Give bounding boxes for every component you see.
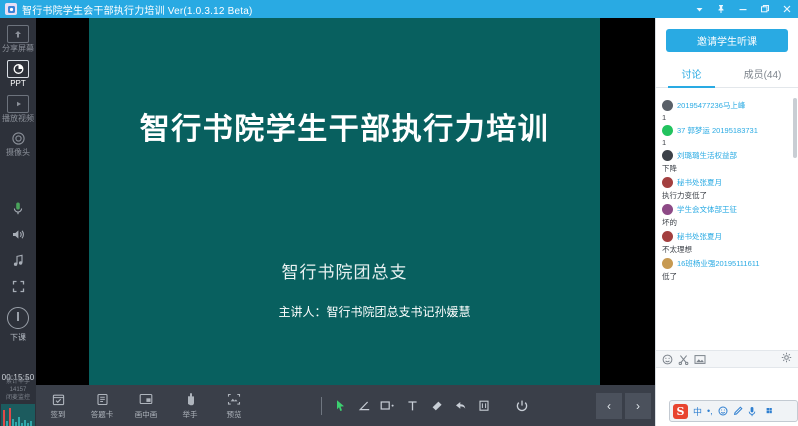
tab-members[interactable]: 成员(44) xyxy=(727,61,798,87)
toolbar-button-answer-card[interactable]: 答题卡 xyxy=(80,385,124,426)
sidebar-label-ppt: PPT xyxy=(10,80,26,89)
chat-message: 刘璐璐生活权益部 下降 xyxy=(662,150,792,174)
chat-message-text: 不太理想 xyxy=(662,244,792,255)
chat-message: 16班杨业强20195111611 低了 xyxy=(662,258,792,282)
emoji-icon[interactable] xyxy=(662,354,678,365)
left-sidebar: 分享屏幕 PPT 播放视频 摄像头 xyxy=(0,18,36,426)
avatar xyxy=(662,231,673,242)
chat-sender-name[interactable]: 秘书处张夏月 xyxy=(677,177,722,188)
image-icon[interactable] xyxy=(694,354,710,365)
ppt-icon xyxy=(7,60,29,78)
avatar xyxy=(662,125,673,136)
answer-card-icon xyxy=(96,391,109,407)
ime-punctuation-toggle[interactable]: •, xyxy=(707,406,713,416)
right-panel: 邀请学生听课 讨论 成员(44) 20195477236马上峰 1 37 郭梦运… xyxy=(655,18,798,426)
chat-message-text: 执行力变低了 xyxy=(662,190,792,201)
prev-slide-button[interactable]: ‹ xyxy=(596,393,622,419)
chat-sender-name[interactable]: 20195477236马上峰 xyxy=(677,100,745,111)
avatar xyxy=(662,150,673,161)
chat-sender-name[interactable]: 学生会文体部王征 xyxy=(677,204,737,215)
gear-icon[interactable] xyxy=(781,350,792,368)
sidebar-item-share-screen[interactable]: 分享屏幕 xyxy=(0,22,36,57)
toolbar-label-answer-card: 答题卡 xyxy=(91,409,114,420)
chat-message-text: 低了 xyxy=(662,271,792,282)
chat-message-header: 学生会文体部王征 xyxy=(662,204,792,215)
toolbar-button-raise-hand[interactable]: 举手 xyxy=(168,385,212,426)
chat-message-header: 秘书处张夏月 xyxy=(662,231,792,242)
undo-icon[interactable] xyxy=(448,392,472,420)
text-icon[interactable] xyxy=(400,392,424,420)
app-logo-icon xyxy=(5,3,17,15)
chat-message-header: 刘璐璐生活权益部 xyxy=(662,150,792,161)
title-bar: 智行书院学生会干部执行力培训 Ver(1.0.3.12 Beta) xyxy=(0,0,798,18)
preview-icon xyxy=(227,391,241,407)
minimize-button[interactable] xyxy=(732,0,754,18)
window-title: 智行书院学生会干部执行力培训 Ver(1.0.3.12 Beta) xyxy=(22,2,253,17)
toolbar-divider xyxy=(321,397,322,415)
slide-canvas[interactable]: 智行书院学生干部执行力培训 智行书院团总支 主讲人：智行书院团总支书记孙媛慧 xyxy=(89,18,600,385)
end-class-label: 下课 xyxy=(10,332,26,343)
chat-message-header: 秘书处张夏月 xyxy=(662,177,792,188)
keyboard-icon[interactable] xyxy=(761,407,772,416)
chat-message-text: 坏的 xyxy=(662,217,792,228)
invite-students-button[interactable]: 邀请学生听课 xyxy=(666,29,788,52)
picture-in-picture-icon xyxy=(139,391,153,407)
raise-hand-icon xyxy=(185,391,196,407)
invite-section: 邀请学生听课 xyxy=(656,18,798,61)
dropdown-icon[interactable] xyxy=(688,0,710,18)
chat-message-header: 20195477236马上峰 xyxy=(662,100,792,111)
drawing-tools-group xyxy=(315,392,534,420)
application-window: 智行书院学生会干部执行力培训 Ver(1.0.3.12 Beta) xyxy=(0,0,798,426)
emoji-icon[interactable] xyxy=(718,406,728,416)
chat-sender-name[interactable]: 刘璐璐生活权益部 xyxy=(677,150,737,161)
slide-navigation: ‹ › xyxy=(593,393,655,419)
eraser-icon[interactable] xyxy=(424,392,448,420)
chat-message-header: 37 郭梦运 20195183731 xyxy=(662,125,792,136)
sidebar-label-play-video: 播放视频 xyxy=(2,115,34,124)
sidebar-item-play-video[interactable]: 播放视频 xyxy=(0,92,36,127)
chat-message: 20195477236马上峰 1 xyxy=(662,100,792,122)
chat-sender-name[interactable]: 37 郭梦运 20195183731 xyxy=(677,125,758,136)
sidebar-item-camera[interactable]: 摄像头 xyxy=(0,126,36,161)
toolbar-label-raise-hand: 举手 xyxy=(183,409,198,420)
screenshot-scissors-icon[interactable] xyxy=(678,354,694,365)
stats-line-1: 累计举手 xyxy=(0,378,36,386)
chat-sender-name[interactable]: 秘书处张夏月 xyxy=(677,231,722,242)
ime-toolbar: S 中 •, xyxy=(669,400,798,422)
chat-sender-name[interactable]: 16班杨业强20195111611 xyxy=(677,258,760,269)
chat-message: 37 郭梦运 20195183731 1 xyxy=(662,125,792,147)
chat-toolbar xyxy=(656,350,798,368)
bottom-toolbar: 签到 答题卡 画中画 举手 预览 xyxy=(36,385,655,426)
chat-scrollbar[interactable] xyxy=(793,98,797,158)
power-off-icon xyxy=(7,307,29,329)
close-button[interactable] xyxy=(776,0,798,18)
next-slide-button[interactable]: › xyxy=(625,393,651,419)
avatar xyxy=(662,258,673,269)
chat-message-text: 1 xyxy=(662,113,792,122)
cursor-icon[interactable] xyxy=(328,392,352,420)
chat-message-text: 下降 xyxy=(662,163,792,174)
chat-message-list[interactable]: 20195477236马上峰 1 37 郭梦运 20195183731 1 刘璐… xyxy=(656,96,798,348)
chat-input-area[interactable] xyxy=(656,369,798,398)
end-class-button[interactable]: 下课 xyxy=(7,307,29,343)
ime-mode-label[interactable]: 中 xyxy=(693,405,702,418)
tab-discussion[interactable]: 讨论 xyxy=(656,61,727,87)
slide-title: 智行书院学生干部执行力培训 xyxy=(89,104,600,148)
fullscreen-icon[interactable] xyxy=(0,273,36,299)
shape-icon[interactable] xyxy=(376,392,400,420)
power-icon[interactable] xyxy=(510,392,534,420)
play-video-icon xyxy=(7,95,29,113)
sidebar-label-share-screen: 分享屏幕 xyxy=(2,45,34,54)
checkin-icon xyxy=(52,391,65,407)
avatar xyxy=(662,177,673,188)
stats-line-3: 闭麦监控 xyxy=(0,394,36,402)
toolbar-button-pip[interactable]: 画中画 xyxy=(124,385,168,426)
chat-message: 秘书处张夏月 不太理想 xyxy=(662,231,792,255)
toolbar-label-checkin: 签到 xyxy=(51,409,66,420)
music-note-icon[interactable] xyxy=(0,247,36,273)
pin-icon[interactable] xyxy=(710,0,732,18)
window-controls xyxy=(688,0,798,18)
toolbar-button-checkin[interactable]: 签到 xyxy=(36,385,80,426)
audio-waveform xyxy=(1,404,35,426)
chat-message: 秘书处张夏月 执行力变低了 xyxy=(662,177,792,201)
share-screen-icon xyxy=(7,25,29,43)
chat-message: 学生会文体部王征 坏的 xyxy=(662,204,792,228)
microphone-icon[interactable] xyxy=(0,195,36,221)
slide-presenter: 主讲人：智行书院团总支书记孙媛慧 xyxy=(89,303,600,320)
camera-icon xyxy=(8,129,28,147)
avatar xyxy=(662,204,673,215)
slide-subtitle: 智行书院团总支 xyxy=(89,258,600,283)
panel-tabs: 讨论 成员(44) xyxy=(656,61,798,88)
sidebar-label-camera: 摄像头 xyxy=(6,149,30,158)
microphone-icon[interactable] xyxy=(748,406,756,417)
sogou-logo-icon[interactable]: S xyxy=(673,404,688,419)
maximize-button[interactable] xyxy=(754,0,776,18)
toolbar-button-preview[interactable]: 预览 xyxy=(212,385,256,426)
pen-icon[interactable] xyxy=(733,406,743,416)
avatar xyxy=(662,100,673,111)
pen-icon[interactable] xyxy=(352,392,376,420)
stats-line-2: 14157 xyxy=(0,386,36,394)
sidebar-item-ppt[interactable]: PPT xyxy=(0,57,36,92)
presentation-stage[interactable]: 智行书院学生干部执行力培训 智行书院团总支 主讲人：智行书院团总支书记孙媛慧 xyxy=(36,18,655,385)
chat-message-text: 1 xyxy=(662,138,792,147)
toolbar-label-preview: 预览 xyxy=(227,409,242,420)
sidebar-stats: 累计举手 14157 闭麦监控 xyxy=(0,378,36,402)
speaker-icon[interactable] xyxy=(0,221,36,247)
toolbar-label-pip: 画中画 xyxy=(135,409,158,420)
trash-icon[interactable] xyxy=(472,392,496,420)
chat-message-header: 16班杨业强20195111611 xyxy=(662,258,792,269)
